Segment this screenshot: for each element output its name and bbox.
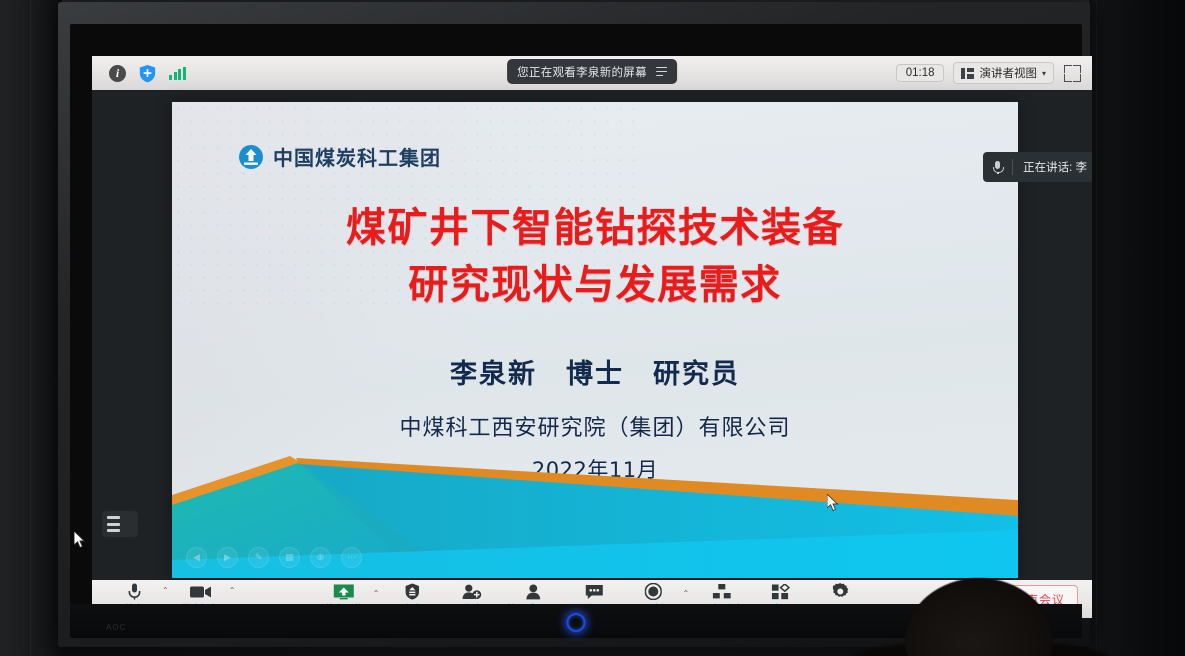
info-icon[interactable]: i [107,63,128,84]
apps-icon [772,583,790,600]
shield-icon [405,583,420,600]
mouse-cursor [827,494,839,512]
next-slide-icon[interactable]: ▶ [217,547,238,568]
left-wall [0,0,62,656]
slide-title-line-1: 煤矿井下智能钻探技术装备 [172,200,1018,257]
shared-content-area: 中国煤炭科工集团 煤矿井下智能钻探技术装备 研究现状与发展需求 李泉新 博士 研… [92,90,1092,580]
list-view-icon[interactable] [102,511,138,537]
share-options-chevron-icon[interactable]: ⌃ [373,589,380,598]
right-wall [1089,0,1185,656]
room-photo-scene: i 您正 [0,0,1185,656]
active-speaker-indicator: 正在讲话: 李 [983,152,1092,182]
slide-title-line-2: 研究现状与发展需求 [172,257,1018,314]
divider [1012,159,1013,175]
prev-slide-icon[interactable]: ◀ [186,547,207,568]
slide-title: 煤矿井下智能钻探技术装备 研究现状与发展需求 [172,200,1018,314]
screen-share-banner[interactable]: 您正在观看李泉新的屏幕 [507,59,677,84]
zoom-top-bar: i 您正 [92,56,1092,90]
topbar-right-controls: 01:18 演讲者视图 ▾ [896,56,1082,90]
active-speaker-label: 正在讲话: 李 [1023,159,1087,175]
slide-presenter-name: 李泉新 博士 研究员 [172,352,1018,391]
slide-organization: 中煤科工西安研究院（集团）有限公司 [172,410,1018,442]
company-logo: 中国煤炭科工集团 [238,142,441,171]
thumbnails-icon[interactable]: ▦ [279,547,300,568]
view-mode-label: 演讲者视图 [979,65,1037,81]
gear-icon [832,583,849,600]
mute-options-chevron-icon[interactable]: ⌃ [162,586,169,595]
mouse-cursor-secondary [74,531,86,549]
view-mode-select[interactable]: 演讲者视图 ▾ [953,62,1054,84]
ppt-slideshow-controls[interactable]: ◀ ▶ ✎ ▦ ⊕ ⋯ [186,547,362,568]
wall-display: i 您正 [58,2,1090,647]
meeting-timer: 01:18 [896,64,945,82]
share-screen-icon [333,583,355,600]
company-logo-text: 中国煤炭科工集团 [273,142,441,171]
power-led-indicator [567,613,586,632]
screen-share-banner-text: 您正在观看李泉新的屏幕 [517,64,647,80]
ccteg-logo-icon [238,144,264,170]
screen-surface: i 您正 [92,56,1092,618]
video-camera-icon [190,583,212,600]
display-brand-mark: AOC [106,623,126,632]
microphone-icon [993,161,1002,174]
signal-bars-icon[interactable] [167,63,188,84]
shield-icon[interactable] [137,63,158,84]
display-bezel-inner: i 您正 [70,24,1082,604]
participants-icon [524,583,541,600]
record-icon [645,583,662,600]
chevron-down-icon: ▾ [1042,69,1046,78]
record-options-chevron-icon[interactable]: ⌃ [683,589,690,598]
layout-icon [961,68,974,79]
microphone-icon [128,583,141,600]
exit-fullscreen-icon[interactable] [1063,64,1082,83]
zoom-icon[interactable]: ⊕ [310,547,331,568]
topbar-left-icons: i [92,63,188,84]
hamburger-menu-icon[interactable] [656,67,667,77]
video-options-chevron-icon[interactable]: ⌃ [229,586,236,595]
more-options-icon[interactable]: ⋯ [341,547,362,568]
presentation-slide[interactable]: 中国煤炭科工集团 煤矿井下智能钻探技术装备 研究现状与发展需求 李泉新 博士 研… [172,102,1018,578]
chat-bubble-icon [585,583,604,600]
pen-icon[interactable]: ✎ [248,547,269,568]
breakout-rooms-icon [713,583,731,600]
invite-person-icon [461,583,481,600]
